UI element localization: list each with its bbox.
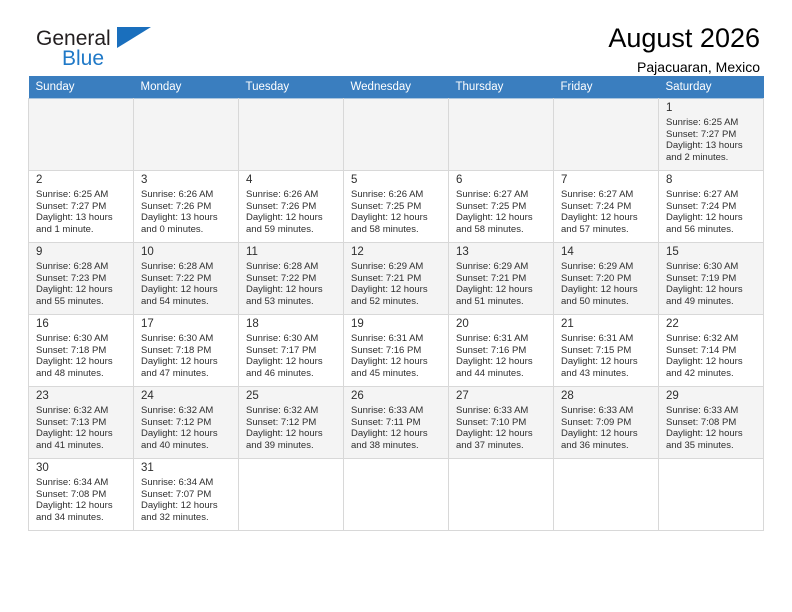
day-detail-line: and 48 minutes. (36, 368, 129, 380)
day-details: Sunrise: 6:28 AMSunset: 7:22 PMDaylight:… (134, 261, 238, 307)
day-detail-line: Sunrise: 6:28 AM (36, 261, 129, 273)
day-detail-line: and 57 minutes. (561, 224, 654, 236)
day-detail-line: Sunrise: 6:31 AM (456, 333, 549, 345)
day-detail-line: Sunset: 7:08 PM (36, 489, 129, 501)
day-detail-line: Daylight: 12 hours (456, 284, 549, 296)
calendar-header: SundayMondayTuesdayWednesdayThursdayFrid… (29, 76, 764, 99)
calendar-cell-empty (344, 459, 449, 531)
day-number: 29 (659, 387, 763, 405)
day-detail-line: Daylight: 12 hours (36, 356, 129, 368)
day-details: Sunrise: 6:27 AMSunset: 7:24 PMDaylight:… (554, 189, 658, 235)
day-detail-line: Sunset: 7:23 PM (36, 273, 129, 285)
day-detail-line: Sunrise: 6:30 AM (246, 333, 339, 345)
day-detail-line: Sunrise: 6:34 AM (36, 477, 129, 489)
calendar-day-cell[interactable]: 24Sunrise: 6:32 AMSunset: 7:12 PMDayligh… (134, 387, 239, 459)
day-detail-line: Sunrise: 6:25 AM (36, 189, 129, 201)
day-number: 3 (134, 171, 238, 189)
calendar-cell-empty (659, 459, 764, 531)
day-details: Sunrise: 6:33 AMSunset: 7:09 PMDaylight:… (554, 405, 658, 451)
calendar-week-row: 16Sunrise: 6:30 AMSunset: 7:18 PMDayligh… (29, 315, 764, 387)
day-details: Sunrise: 6:31 AMSunset: 7:16 PMDaylight:… (449, 333, 553, 379)
day-number: 8 (659, 171, 763, 189)
day-detail-line: Sunrise: 6:32 AM (141, 405, 234, 417)
day-details: Sunrise: 6:34 AMSunset: 7:08 PMDaylight:… (29, 477, 133, 523)
day-number: 22 (659, 315, 763, 333)
day-detail-line: Sunrise: 6:26 AM (141, 189, 234, 201)
day-detail-line: and 46 minutes. (246, 368, 339, 380)
day-number: 26 (344, 387, 448, 405)
day-detail-line: and 35 minutes. (666, 440, 759, 452)
day-detail-line: Sunset: 7:20 PM (561, 273, 654, 285)
day-detail-line: Sunset: 7:26 PM (141, 201, 234, 213)
day-detail-line: Sunrise: 6:29 AM (351, 261, 444, 273)
day-number: 11 (239, 243, 343, 261)
day-number: 17 (134, 315, 238, 333)
calendar-day-cell[interactable]: 10Sunrise: 6:28 AMSunset: 7:22 PMDayligh… (134, 243, 239, 315)
day-details: Sunrise: 6:26 AMSunset: 7:26 PMDaylight:… (239, 189, 343, 235)
day-detail-line: and 59 minutes. (246, 224, 339, 236)
day-details: Sunrise: 6:31 AMSunset: 7:15 PMDaylight:… (554, 333, 658, 379)
day-detail-line: and 43 minutes. (561, 368, 654, 380)
day-detail-line: Daylight: 12 hours (666, 212, 759, 224)
day-detail-line: Sunrise: 6:33 AM (666, 405, 759, 417)
day-number: 7 (554, 171, 658, 189)
day-detail-line: and 45 minutes. (351, 368, 444, 380)
day-number: 18 (239, 315, 343, 333)
day-detail-line: Daylight: 12 hours (246, 428, 339, 440)
day-number: 27 (449, 387, 553, 405)
day-number: 16 (29, 315, 133, 333)
day-number: 20 (449, 315, 553, 333)
day-number: 1 (659, 99, 763, 117)
calendar-week-row: 1Sunrise: 6:25 AMSunset: 7:27 PMDaylight… (29, 99, 764, 171)
day-detail-line: Daylight: 12 hours (36, 428, 129, 440)
day-detail-line: Sunrise: 6:28 AM (141, 261, 234, 273)
day-detail-line: Sunset: 7:15 PM (561, 345, 654, 357)
day-number: 10 (134, 243, 238, 261)
day-detail-line: and 58 minutes. (351, 224, 444, 236)
day-detail-line: Daylight: 12 hours (246, 284, 339, 296)
calendar-day-cell[interactable]: 11Sunrise: 6:28 AMSunset: 7:22 PMDayligh… (239, 243, 344, 315)
weekday-header-thursday: Thursday (449, 76, 554, 99)
calendar-day-cell[interactable]: 22Sunrise: 6:32 AMSunset: 7:14 PMDayligh… (659, 315, 764, 387)
calendar-day-cell[interactable]: 23Sunrise: 6:32 AMSunset: 7:13 PMDayligh… (29, 387, 134, 459)
calendar-cell-empty (134, 99, 239, 171)
day-details: Sunrise: 6:34 AMSunset: 7:07 PMDaylight:… (134, 477, 238, 523)
calendar-cell-empty (554, 99, 659, 171)
day-detail-line: and 41 minutes. (36, 440, 129, 452)
day-detail-line: Sunrise: 6:25 AM (666, 117, 759, 129)
day-details: Sunrise: 6:29 AMSunset: 7:21 PMDaylight:… (449, 261, 553, 307)
day-detail-line: Sunrise: 6:30 AM (36, 333, 129, 345)
day-detail-line: Daylight: 12 hours (141, 500, 234, 512)
calendar-body: 1Sunrise: 6:25 AMSunset: 7:27 PMDaylight… (29, 99, 764, 531)
calendar-day-cell[interactable]: 30Sunrise: 6:34 AMSunset: 7:08 PMDayligh… (29, 459, 134, 531)
day-detail-line: Daylight: 12 hours (351, 428, 444, 440)
day-number: 9 (29, 243, 133, 261)
day-number: 28 (554, 387, 658, 405)
day-detail-line: Sunset: 7:07 PM (141, 489, 234, 501)
day-detail-line: Sunrise: 6:32 AM (666, 333, 759, 345)
day-detail-line: Daylight: 12 hours (141, 428, 234, 440)
day-detail-line: and 2 minutes. (666, 152, 759, 164)
calendar-day-cell[interactable]: 5Sunrise: 6:26 AMSunset: 7:25 PMDaylight… (344, 171, 449, 243)
day-details: Sunrise: 6:29 AMSunset: 7:20 PMDaylight:… (554, 261, 658, 307)
calendar-cell-empty (449, 459, 554, 531)
calendar-day-cell[interactable]: 8Sunrise: 6:27 AMSunset: 7:24 PMDaylight… (659, 171, 764, 243)
day-detail-line: Sunset: 7:09 PM (561, 417, 654, 429)
calendar-day-cell[interactable]: 26Sunrise: 6:33 AMSunset: 7:11 PMDayligh… (344, 387, 449, 459)
day-number: 5 (344, 171, 448, 189)
day-number: 31 (134, 459, 238, 477)
weekday-header-wednesday: Wednesday (344, 76, 449, 99)
day-detail-line: Daylight: 12 hours (456, 356, 549, 368)
day-detail-line: Sunrise: 6:32 AM (246, 405, 339, 417)
calendar-day-cell[interactable]: 29Sunrise: 6:33 AMSunset: 7:08 PMDayligh… (659, 387, 764, 459)
weekday-header-sunday: Sunday (29, 76, 134, 99)
day-detail-line: and 0 minutes. (141, 224, 234, 236)
day-detail-line: and 51 minutes. (456, 296, 549, 308)
day-detail-line: Daylight: 12 hours (456, 212, 549, 224)
calendar-day-cell[interactable]: 2Sunrise: 6:25 AMSunset: 7:27 PMDaylight… (29, 171, 134, 243)
day-detail-line: Sunset: 7:24 PM (561, 201, 654, 213)
day-detail-line: Sunrise: 6:29 AM (456, 261, 549, 273)
calendar-day-cell[interactable]: 20Sunrise: 6:31 AMSunset: 7:16 PMDayligh… (449, 315, 554, 387)
day-detail-line: Sunrise: 6:30 AM (666, 261, 759, 273)
day-detail-line: Sunrise: 6:27 AM (561, 189, 654, 201)
day-details: Sunrise: 6:30 AMSunset: 7:19 PMDaylight:… (659, 261, 763, 307)
weekday-header-row: SundayMondayTuesdayWednesdayThursdayFrid… (29, 76, 764, 99)
day-detail-line: and 47 minutes. (141, 368, 234, 380)
day-detail-line: Daylight: 12 hours (351, 212, 444, 224)
calendar-week-row: 23Sunrise: 6:32 AMSunset: 7:13 PMDayligh… (29, 387, 764, 459)
day-number: 6 (449, 171, 553, 189)
day-detail-line: Sunset: 7:21 PM (456, 273, 549, 285)
calendar-day-cell[interactable]: 17Sunrise: 6:30 AMSunset: 7:18 PMDayligh… (134, 315, 239, 387)
day-details: Sunrise: 6:32 AMSunset: 7:12 PMDaylight:… (239, 405, 343, 451)
calendar-day-cell[interactable]: 18Sunrise: 6:30 AMSunset: 7:17 PMDayligh… (239, 315, 344, 387)
page-title: August 2026 (608, 22, 760, 54)
day-number: 19 (344, 315, 448, 333)
day-detail-line: Sunset: 7:24 PM (666, 201, 759, 213)
day-detail-line: and 55 minutes. (36, 296, 129, 308)
calendar-day-cell[interactable]: 4Sunrise: 6:26 AMSunset: 7:26 PMDaylight… (239, 171, 344, 243)
day-detail-line: Sunset: 7:13 PM (36, 417, 129, 429)
calendar-day-cell[interactable]: 1Sunrise: 6:25 AMSunset: 7:27 PMDaylight… (659, 99, 764, 171)
day-detail-line: Daylight: 12 hours (561, 284, 654, 296)
day-details: Sunrise: 6:31 AMSunset: 7:16 PMDaylight:… (344, 333, 448, 379)
day-detail-line: Daylight: 12 hours (351, 356, 444, 368)
calendar-week-row: 30Sunrise: 6:34 AMSunset: 7:08 PMDayligh… (29, 459, 764, 531)
day-details: Sunrise: 6:33 AMSunset: 7:10 PMDaylight:… (449, 405, 553, 451)
logo-text-general: General (36, 28, 111, 49)
day-detail-line: Sunrise: 6:34 AM (141, 477, 234, 489)
day-detail-line: Daylight: 12 hours (561, 428, 654, 440)
calendar-page: General Blue August 2026 Pajacuaran, Mex… (0, 0, 792, 612)
title-block: August 2026 Pajacuaran, Mexico (608, 22, 764, 78)
day-detail-line: Sunset: 7:08 PM (666, 417, 759, 429)
day-number: 21 (554, 315, 658, 333)
day-number: 4 (239, 171, 343, 189)
day-details: Sunrise: 6:25 AMSunset: 7:27 PMDaylight:… (29, 189, 133, 235)
day-number: 23 (29, 387, 133, 405)
calendar-day-cell[interactable]: 31Sunrise: 6:34 AMSunset: 7:07 PMDayligh… (134, 459, 239, 531)
day-detail-line: Daylight: 12 hours (246, 212, 339, 224)
day-details: Sunrise: 6:30 AMSunset: 7:17 PMDaylight:… (239, 333, 343, 379)
calendar-day-cell[interactable]: 3Sunrise: 6:26 AMSunset: 7:26 PMDaylight… (134, 171, 239, 243)
day-detail-line: Sunset: 7:22 PM (141, 273, 234, 285)
day-detail-line: Sunset: 7:26 PM (246, 201, 339, 213)
day-number: 12 (344, 243, 448, 261)
day-detail-line: Daylight: 13 hours (666, 140, 759, 152)
general-blue-logo[interactable]: General Blue (28, 22, 178, 78)
day-detail-line: Daylight: 12 hours (246, 356, 339, 368)
day-detail-line: Sunset: 7:25 PM (351, 201, 444, 213)
day-details: Sunrise: 6:32 AMSunset: 7:12 PMDaylight:… (134, 405, 238, 451)
day-detail-line: and 53 minutes. (246, 296, 339, 308)
day-detail-line: and 54 minutes. (141, 296, 234, 308)
calendar-day-cell[interactable]: 16Sunrise: 6:30 AMSunset: 7:18 PMDayligh… (29, 315, 134, 387)
weekday-header-friday: Friday (554, 76, 659, 99)
day-detail-line: Sunrise: 6:30 AM (141, 333, 234, 345)
day-details: Sunrise: 6:25 AMSunset: 7:27 PMDaylight:… (659, 117, 763, 163)
day-detail-line: and 32 minutes. (141, 512, 234, 524)
day-details: Sunrise: 6:32 AMSunset: 7:13 PMDaylight:… (29, 405, 133, 451)
page-subtitle: Pajacuaran, Mexico (608, 56, 760, 78)
day-detail-line: Sunset: 7:27 PM (36, 201, 129, 213)
day-detail-line: Daylight: 13 hours (141, 212, 234, 224)
calendar-day-cell[interactable]: 27Sunrise: 6:33 AMSunset: 7:10 PMDayligh… (449, 387, 554, 459)
day-details: Sunrise: 6:29 AMSunset: 7:21 PMDaylight:… (344, 261, 448, 307)
day-detail-line: Sunrise: 6:29 AM (561, 261, 654, 273)
day-number: 25 (239, 387, 343, 405)
day-detail-line: Sunrise: 6:33 AM (561, 405, 654, 417)
day-detail-line: Sunset: 7:17 PM (246, 345, 339, 357)
day-detail-line: and 1 minute. (36, 224, 129, 236)
logo-triangle-icon (117, 27, 151, 48)
page-header: General Blue August 2026 Pajacuaran, Mex… (28, 0, 764, 76)
day-details: Sunrise: 6:27 AMSunset: 7:24 PMDaylight:… (659, 189, 763, 235)
day-detail-line: and 34 minutes. (36, 512, 129, 524)
day-number: 13 (449, 243, 553, 261)
calendar-day-cell[interactable]: 21Sunrise: 6:31 AMSunset: 7:15 PMDayligh… (554, 315, 659, 387)
day-detail-line: Sunrise: 6:26 AM (246, 189, 339, 201)
day-details: Sunrise: 6:33 AMSunset: 7:08 PMDaylight:… (659, 405, 763, 451)
calendar-cell-empty (449, 99, 554, 171)
day-detail-line: and 49 minutes. (666, 296, 759, 308)
day-details: Sunrise: 6:26 AMSunset: 7:26 PMDaylight:… (134, 189, 238, 235)
day-detail-line: and 40 minutes. (141, 440, 234, 452)
day-detail-line: Sunrise: 6:27 AM (666, 189, 759, 201)
day-detail-line: and 50 minutes. (561, 296, 654, 308)
calendar-day-cell[interactable]: 25Sunrise: 6:32 AMSunset: 7:12 PMDayligh… (239, 387, 344, 459)
day-detail-line: Sunset: 7:21 PM (351, 273, 444, 285)
day-detail-line: Sunrise: 6:28 AM (246, 261, 339, 273)
day-detail-line: Daylight: 12 hours (351, 284, 444, 296)
calendar-day-cell[interactable]: 14Sunrise: 6:29 AMSunset: 7:20 PMDayligh… (554, 243, 659, 315)
calendar-day-cell[interactable]: 13Sunrise: 6:29 AMSunset: 7:21 PMDayligh… (449, 243, 554, 315)
day-detail-line: Daylight: 12 hours (36, 284, 129, 296)
calendar-day-cell[interactable]: 7Sunrise: 6:27 AMSunset: 7:24 PMDaylight… (554, 171, 659, 243)
day-detail-line: Sunrise: 6:31 AM (351, 333, 444, 345)
day-number: 15 (659, 243, 763, 261)
day-detail-line: Sunrise: 6:33 AM (351, 405, 444, 417)
day-detail-line: Daylight: 12 hours (666, 428, 759, 440)
day-detail-line: Sunset: 7:18 PM (36, 345, 129, 357)
day-detail-line: and 44 minutes. (456, 368, 549, 380)
day-detail-line: Sunrise: 6:27 AM (456, 189, 549, 201)
calendar-cell-empty (344, 99, 449, 171)
day-detail-line: Daylight: 12 hours (666, 356, 759, 368)
weekday-header-monday: Monday (134, 76, 239, 99)
day-details: Sunrise: 6:33 AMSunset: 7:11 PMDaylight:… (344, 405, 448, 451)
day-detail-line: Sunset: 7:12 PM (141, 417, 234, 429)
day-detail-line: Daylight: 12 hours (561, 356, 654, 368)
day-detail-line: and 52 minutes. (351, 296, 444, 308)
calendar-cell-empty (239, 99, 344, 171)
day-detail-line: Sunset: 7:19 PM (666, 273, 759, 285)
day-detail-line: and 56 minutes. (666, 224, 759, 236)
calendar-day-cell[interactable]: 19Sunrise: 6:31 AMSunset: 7:16 PMDayligh… (344, 315, 449, 387)
day-details: Sunrise: 6:27 AMSunset: 7:25 PMDaylight:… (449, 189, 553, 235)
day-detail-line: and 39 minutes. (246, 440, 339, 452)
day-number: 30 (29, 459, 133, 477)
day-detail-line: Sunset: 7:11 PM (351, 417, 444, 429)
day-detail-line: Daylight: 12 hours (36, 500, 129, 512)
day-details: Sunrise: 6:28 AMSunset: 7:23 PMDaylight:… (29, 261, 133, 307)
day-detail-line: Sunset: 7:10 PM (456, 417, 549, 429)
calendar-day-cell[interactable]: 6Sunrise: 6:27 AMSunset: 7:25 PMDaylight… (449, 171, 554, 243)
calendar-week-row: 9Sunrise: 6:28 AMSunset: 7:23 PMDaylight… (29, 243, 764, 315)
day-details: Sunrise: 6:26 AMSunset: 7:25 PMDaylight:… (344, 189, 448, 235)
weekday-header-saturday: Saturday (659, 76, 764, 99)
day-details: Sunrise: 6:30 AMSunset: 7:18 PMDaylight:… (134, 333, 238, 379)
day-number: 2 (29, 171, 133, 189)
calendar-cell-empty (29, 99, 134, 171)
calendar-day-cell[interactable]: 15Sunrise: 6:30 AMSunset: 7:19 PMDayligh… (659, 243, 764, 315)
day-details: Sunrise: 6:28 AMSunset: 7:22 PMDaylight:… (239, 261, 343, 307)
day-detail-line: and 42 minutes. (666, 368, 759, 380)
day-detail-line: Daylight: 12 hours (666, 284, 759, 296)
logo-text-blue: Blue (62, 48, 104, 69)
day-detail-line: Daylight: 12 hours (141, 356, 234, 368)
day-detail-line: Sunset: 7:22 PM (246, 273, 339, 285)
day-number: 14 (554, 243, 658, 261)
day-detail-line: Sunset: 7:25 PM (456, 201, 549, 213)
day-detail-line: Sunset: 7:16 PM (351, 345, 444, 357)
day-detail-line: Daylight: 12 hours (561, 212, 654, 224)
calendar-cell-empty (239, 459, 344, 531)
calendar-day-cell[interactable]: 28Sunrise: 6:33 AMSunset: 7:09 PMDayligh… (554, 387, 659, 459)
day-detail-line: Sunset: 7:18 PM (141, 345, 234, 357)
day-details: Sunrise: 6:30 AMSunset: 7:18 PMDaylight:… (29, 333, 133, 379)
day-detail-line: Daylight: 12 hours (141, 284, 234, 296)
day-detail-line: Sunset: 7:14 PM (666, 345, 759, 357)
day-detail-line: and 36 minutes. (561, 440, 654, 452)
day-detail-line: Daylight: 12 hours (456, 428, 549, 440)
day-number: 24 (134, 387, 238, 405)
day-detail-line: Sunset: 7:16 PM (456, 345, 549, 357)
calendar-day-cell[interactable]: 9Sunrise: 6:28 AMSunset: 7:23 PMDaylight… (29, 243, 134, 315)
day-detail-line: Sunrise: 6:26 AM (351, 189, 444, 201)
day-detail-line: Sunset: 7:12 PM (246, 417, 339, 429)
day-detail-line: and 58 minutes. (456, 224, 549, 236)
sunrise-sunset-calendar: SundayMondayTuesdayWednesdayThursdayFrid… (28, 76, 764, 531)
day-details: Sunrise: 6:32 AMSunset: 7:14 PMDaylight:… (659, 333, 763, 379)
calendar-cell-empty (554, 459, 659, 531)
day-detail-line: Daylight: 13 hours (36, 212, 129, 224)
day-detail-line: and 38 minutes. (351, 440, 444, 452)
weekday-header-tuesday: Tuesday (239, 76, 344, 99)
calendar-week-row: 2Sunrise: 6:25 AMSunset: 7:27 PMDaylight… (29, 171, 764, 243)
day-detail-line: Sunrise: 6:31 AM (561, 333, 654, 345)
calendar-day-cell[interactable]: 12Sunrise: 6:29 AMSunset: 7:21 PMDayligh… (344, 243, 449, 315)
day-detail-line: Sunset: 7:27 PM (666, 129, 759, 141)
day-detail-line: and 37 minutes. (456, 440, 549, 452)
day-detail-line: Sunrise: 6:32 AM (36, 405, 129, 417)
day-detail-line: Sunrise: 6:33 AM (456, 405, 549, 417)
